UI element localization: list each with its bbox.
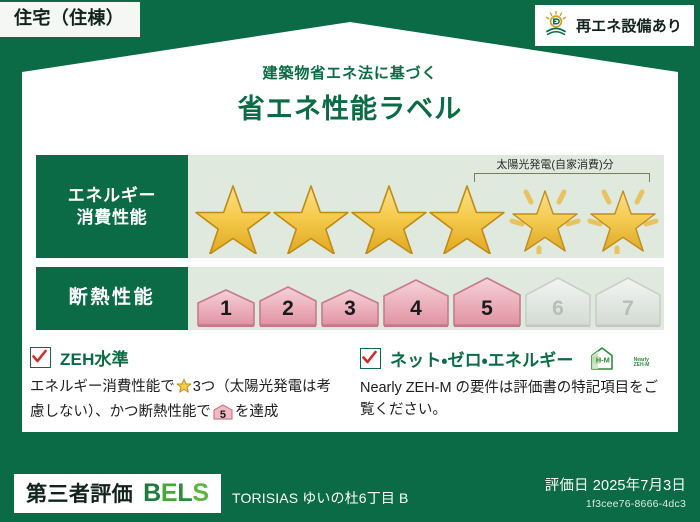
energy-label-line2: 消費性能 — [77, 207, 148, 229]
insulation-level-7: 7 — [594, 275, 662, 327]
label-subtitle: 建築物省エネ法に基づく — [0, 62, 700, 83]
bels-letter-e: E — [161, 479, 177, 507]
check-icon-net-zero — [360, 348, 381, 369]
svg-text:H-M: H-M — [595, 355, 609, 364]
evaluation-date: 評価日 2025年7月3日 — [545, 474, 686, 495]
energy-performance-label: 住宅（住棟） 再エネ設備あり 建築物省エネ法に基づく 省エ — [0, 0, 700, 522]
building-name: TORISIAS ゆいの杜6丁目 B — [232, 488, 409, 508]
star-filled-1 — [194, 174, 272, 254]
insulation-level-6-number: 6 — [524, 297, 592, 321]
star-icon-inline — [176, 382, 192, 398]
bels-letter-b: B — [143, 479, 161, 507]
insulation-level-2: 2 — [258, 284, 318, 327]
star-filled-4 — [428, 174, 506, 254]
note-zeh-standard: ZEH水準 エネルギー消費性能で3つ（太陽光発電は考慮しない）、かつ断熱性能で5… — [30, 345, 338, 427]
note-zeh-header: ZEH水準 — [30, 345, 338, 370]
insulation-level-4-number: 4 — [382, 297, 450, 321]
energy-star-rating — [194, 174, 662, 254]
energy-performance-label-box: エネルギー 消費性能 — [36, 155, 188, 258]
insulation-performance-row: 断熱性能 — [36, 267, 664, 330]
insulation-level-3-number: 3 — [320, 297, 380, 321]
solar-annotation-text: 太陽光発電(自家消費)分 — [452, 159, 658, 171]
insulation-level-5: 5 — [452, 275, 522, 327]
note-zeh-body: エネルギー消費性能で3つ（太陽光発電は考慮しない）、かつ断熱性能で5を達成 — [30, 376, 338, 427]
insulation-level-7-number: 7 — [594, 297, 662, 321]
note-net-zero-body: Nearly ZEH-M の要件は評価書の特記項目をご覧ください。 — [360, 377, 668, 421]
house-icon-inline: 5 — [213, 404, 233, 427]
house-icon-inline-value: 5 — [213, 407, 233, 424]
solar-sun-icon — [543, 10, 569, 41]
energy-label-line1: エネルギー — [68, 185, 156, 207]
bels-letter-l: L — [177, 479, 192, 507]
label-footer: 第三者評価 BELS TORISIAS ゆいの杜6丁目 B 評価日 2025年7… — [0, 464, 700, 522]
check-icon-zeh — [30, 347, 51, 368]
star-solar-5 — [506, 174, 584, 254]
renewable-badge-label: 再エネ設備あり — [576, 15, 682, 36]
note-net-zero-header: ネット・ゼロ・エネルギー H-M Nearly ZEH-M — [360, 345, 668, 371]
insulation-level-3: 3 — [320, 287, 380, 327]
bels-letter-s: S — [192, 479, 208, 507]
note-zeh-title: ZEH水準 — [60, 345, 129, 370]
label-main-title: 省エネ性能ラベル — [0, 87, 700, 126]
certificate-id: 1f3cee76-8666-4dc3 — [545, 498, 686, 510]
star-filled-3 — [350, 174, 428, 254]
notes-area: ZEH水準 エネルギー消費性能で3つ（太陽光発電は考慮しない）、かつ断熱性能で5… — [30, 345, 670, 427]
note-net-zero-energy: ネット・ゼロ・エネルギー H-M Nearly ZEH-M Nearly ZEH… — [360, 345, 668, 427]
insulation-label: 断熱性能 — [69, 286, 156, 310]
zeh-m-logo-sub2: ZEH-M — [634, 363, 650, 368]
note-net-zero-title: ネット・ゼロ・エネルギー — [390, 346, 574, 371]
insulation-level-6: 6 — [524, 275, 592, 327]
bels-wordmark: BELS — [143, 479, 209, 508]
insulation-level-5-number: 5 — [452, 297, 522, 321]
energy-performance-row: エネルギー 消費性能 太陽光発電(自家消費)分 — [36, 155, 664, 258]
renewable-equipment-badge: 再エネ設備あり — [535, 5, 694, 46]
insulation-level-2-number: 2 — [258, 297, 318, 321]
insulation-level-4: 4 — [382, 277, 450, 327]
insulation-level-1: 1 — [196, 287, 256, 327]
star-solar-6 — [584, 174, 662, 254]
building-type-tag: 住宅（住棟） — [0, 2, 140, 37]
evaluation-date-block: 評価日 2025年7月3日 1f3cee76-8666-4dc3 — [545, 474, 686, 510]
third-party-evaluation-label: 第三者評価 — [26, 478, 133, 508]
insulation-level-scale: 1 2 3 — [196, 275, 664, 327]
star-filled-2 — [272, 174, 350, 254]
zeh-m-logo: H-M Nearly ZEH-M — [589, 345, 650, 371]
insulation-performance-label-box: 断熱性能 — [36, 267, 188, 330]
insulation-rating-panel: 1 2 3 — [188, 267, 664, 330]
bels-badge: 第三者評価 BELS — [14, 474, 221, 513]
note-zeh-text-3: を達成 — [235, 404, 278, 420]
energy-rating-panel: 太陽光発電(自家消費)分 — [188, 155, 664, 258]
note-zeh-text-1: エネルギー消費性能で — [30, 379, 175, 395]
insulation-level-1-number: 1 — [196, 297, 256, 321]
label-title-block: 建築物省エネ法に基づく 省エネ性能ラベル — [0, 62, 700, 126]
metrics-area: エネルギー 消費性能 太陽光発電(自家消費)分 — [36, 155, 664, 339]
